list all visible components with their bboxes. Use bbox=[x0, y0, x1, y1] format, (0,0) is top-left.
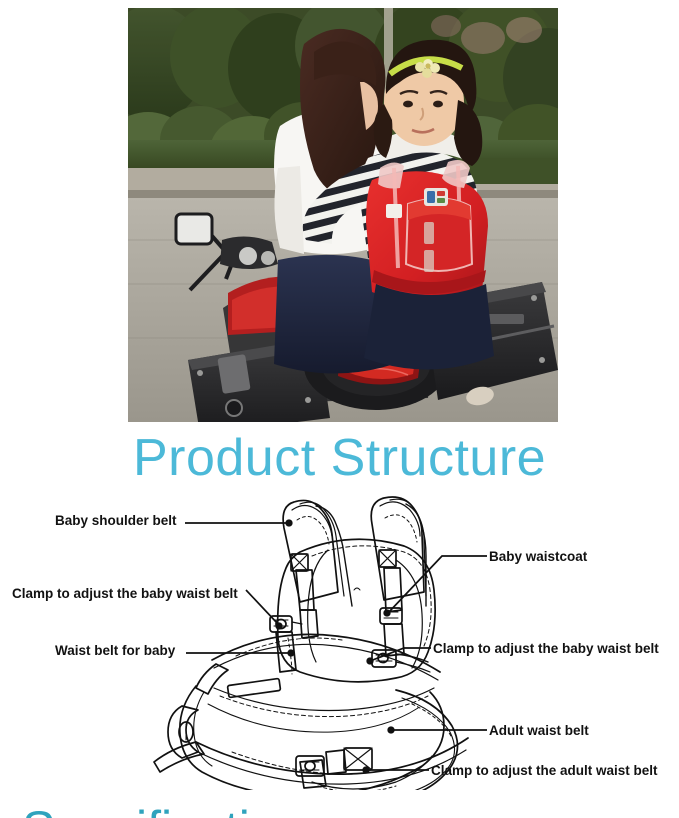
next-section-title-clipped: Specification bbox=[0, 800, 679, 818]
callout-label-clamp-baby-waist-right: Clamp to adjust the baby waist belt bbox=[433, 641, 659, 657]
callout-label-adult-waist-belt: Adult waist belt bbox=[489, 723, 589, 739]
product-photo bbox=[128, 8, 558, 422]
harness-line-drawing bbox=[0, 490, 679, 790]
callout-label-waist-belt-for-baby: Waist belt for baby bbox=[55, 643, 175, 659]
next-section-title-text: Specification bbox=[22, 800, 306, 818]
page-title: Product Structure bbox=[0, 428, 679, 488]
product-structure-diagram bbox=[0, 490, 679, 790]
callout-label-baby-waistcoat: Baby waistcoat bbox=[489, 549, 587, 565]
product-photo-image bbox=[128, 8, 558, 422]
leader-baby-waistcoat bbox=[388, 556, 487, 613]
callout-label-baby-shoulder-belt: Baby shoulder belt bbox=[55, 513, 177, 529]
leader-clamp-baby-waist-left bbox=[246, 590, 278, 624]
callout-label-clamp-adult-waist-belt: Clamp to adjust the adult waist belt bbox=[431, 763, 658, 779]
callout-label-clamp-baby-waist-left: Clamp to adjust the baby waist belt bbox=[12, 586, 238, 602]
